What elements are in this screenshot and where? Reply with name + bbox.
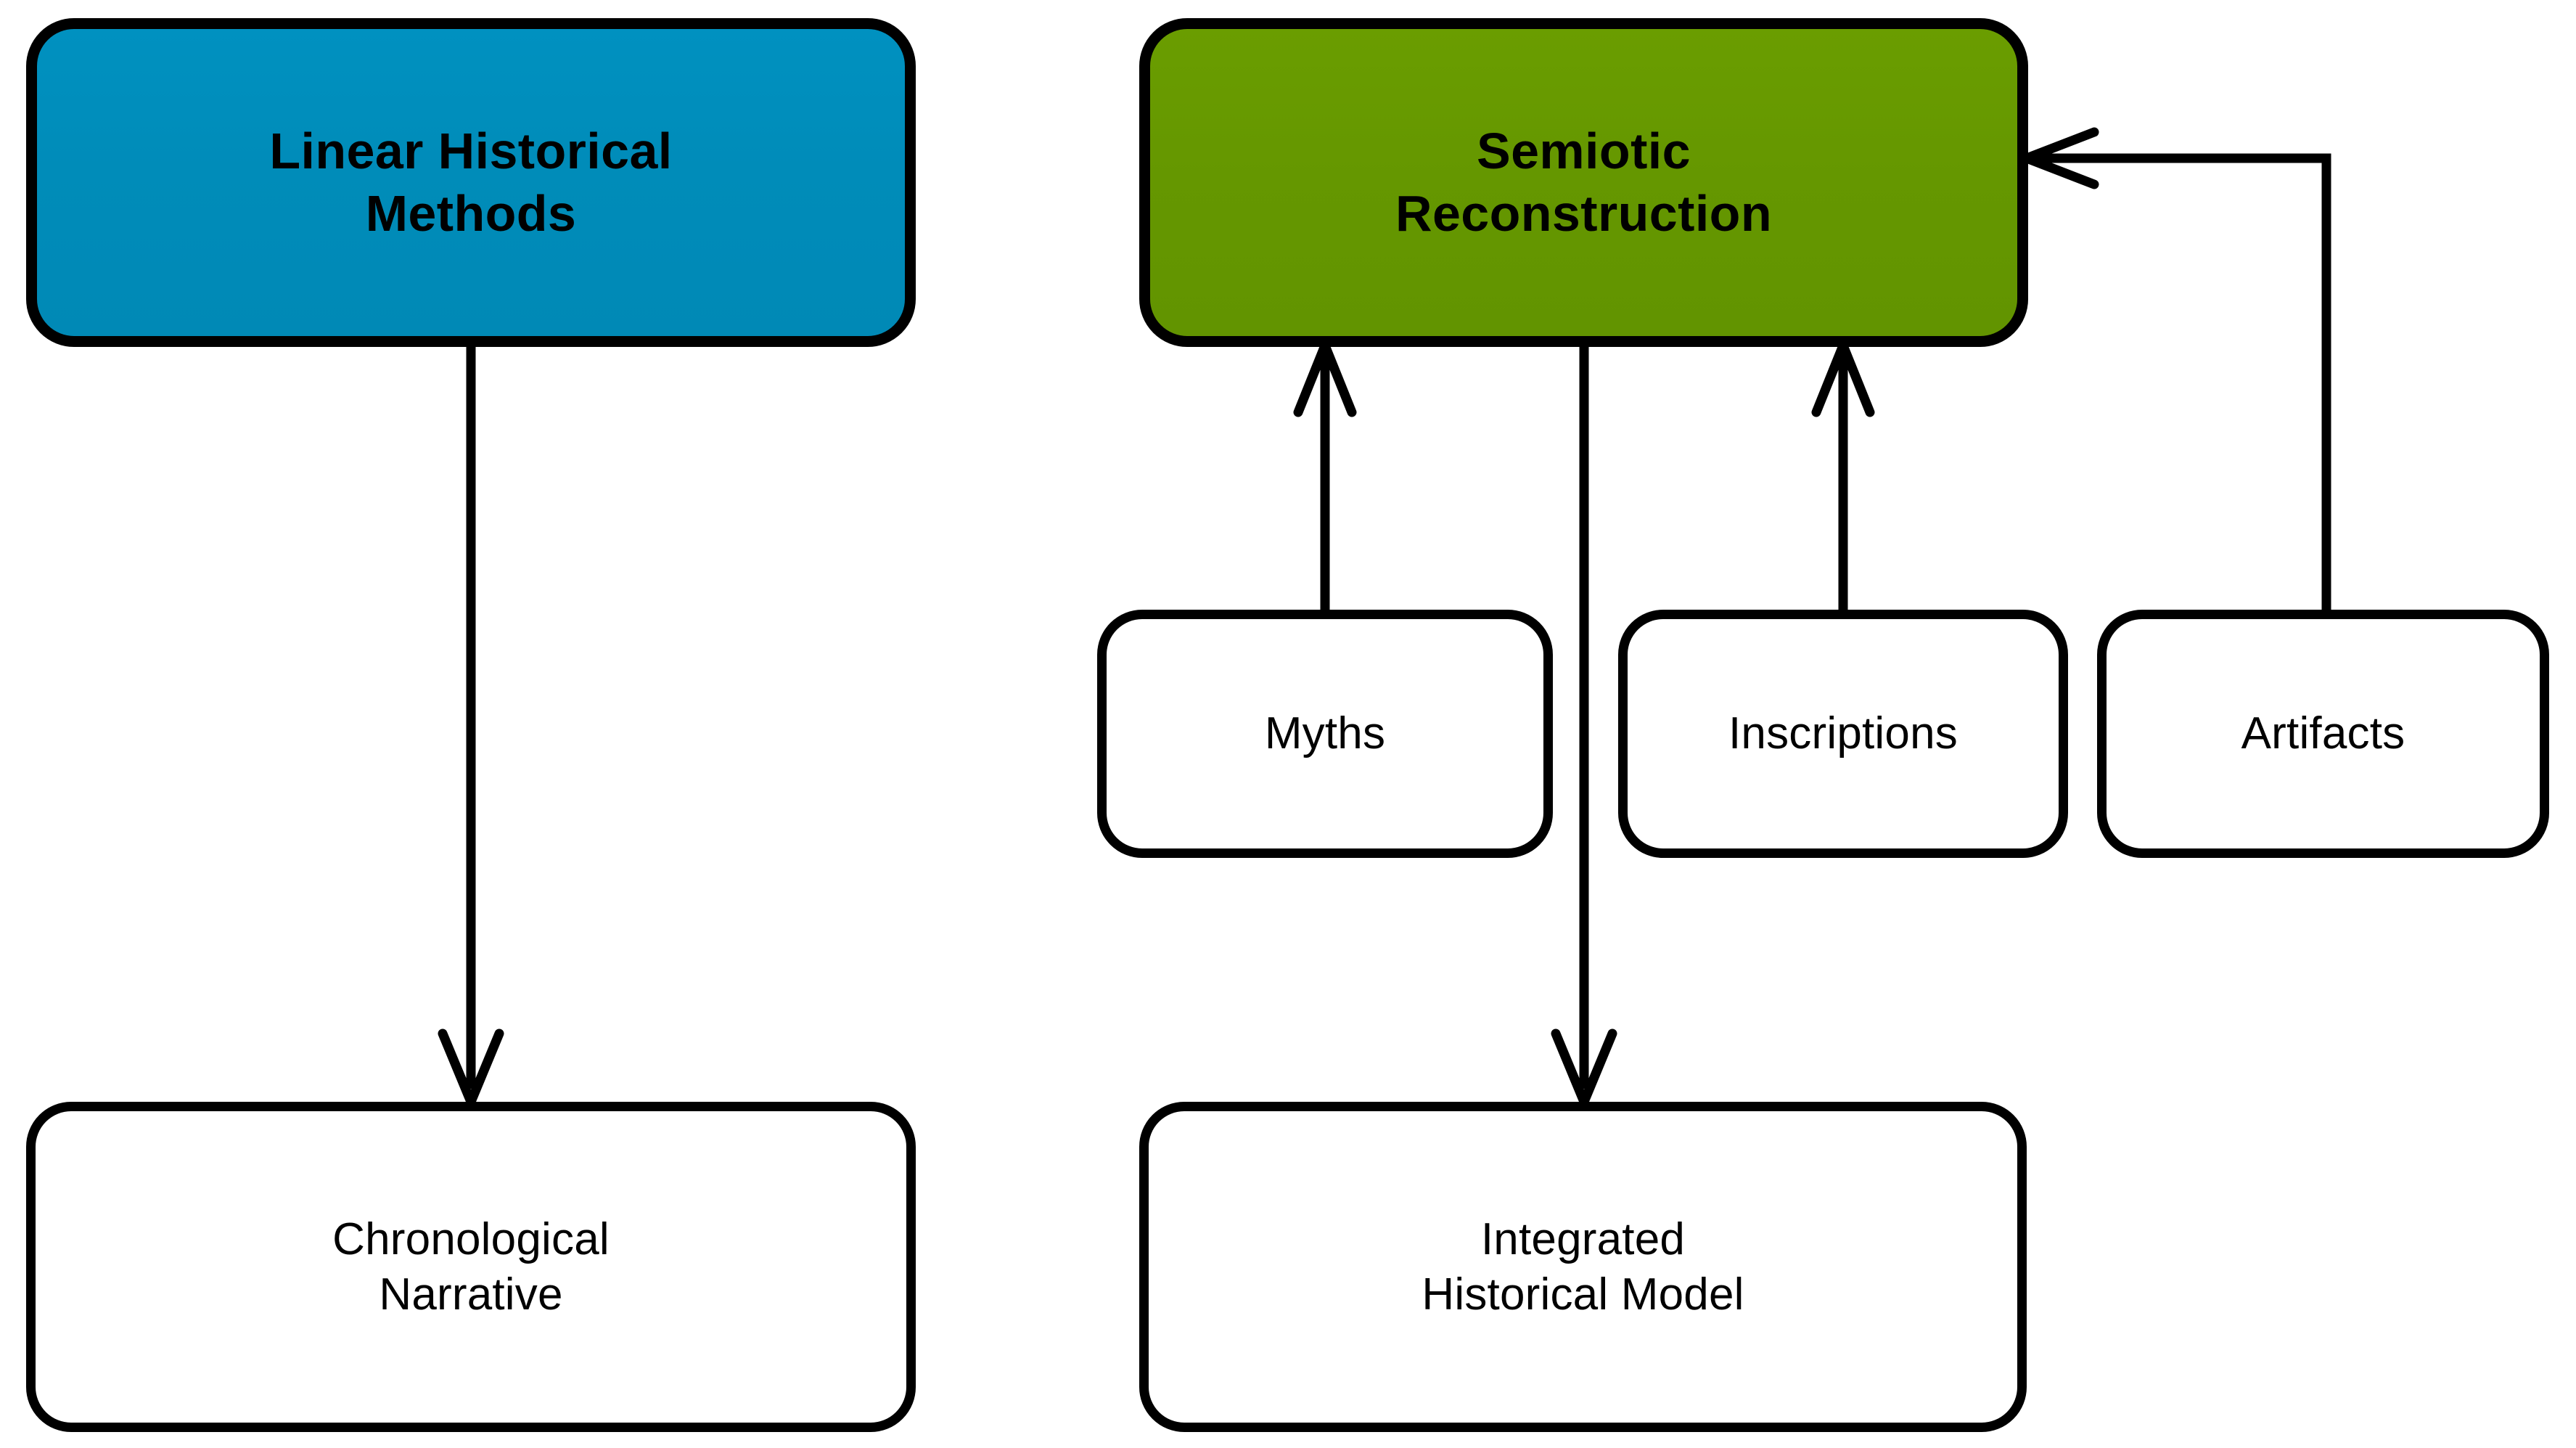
node-label: Linear Historical Methods (252, 120, 689, 245)
node-myths[interactable]: Myths (1097, 610, 1553, 858)
node-label: Semiotic Reconstruction (1378, 120, 1789, 245)
node-label: Integrated Historical Model (1404, 1212, 1761, 1322)
node-linear-historical-methods[interactable]: Linear Historical Methods (26, 18, 916, 347)
node-integrated-historical-model[interactable]: Integrated Historical Model (1139, 1102, 2027, 1432)
edge-linear-to-chronological (443, 347, 499, 1102)
node-label: Myths (1247, 706, 1403, 761)
edge-artifacts-to-semiotic (2027, 132, 2326, 610)
edge-myths-to-semiotic (1298, 345, 1352, 610)
edge-semiotic-to-integrated (1556, 347, 1612, 1102)
node-artifacts[interactable]: Artifacts (2097, 610, 2549, 858)
edge-inscriptions-to-semiotic (1816, 345, 1870, 610)
diagram-canvas: Linear Historical Methods Semiotic Recon… (0, 0, 2576, 1448)
node-semiotic-reconstruction[interactable]: Semiotic Reconstruction (1139, 18, 2028, 347)
node-chronological-narrative[interactable]: Chronological Narrative (26, 1102, 916, 1432)
node-label: Artifacts (2224, 706, 2423, 761)
node-inscriptions[interactable]: Inscriptions (1618, 610, 2068, 858)
node-label: Chronological Narrative (315, 1212, 627, 1322)
node-label: Inscriptions (1711, 706, 1975, 761)
